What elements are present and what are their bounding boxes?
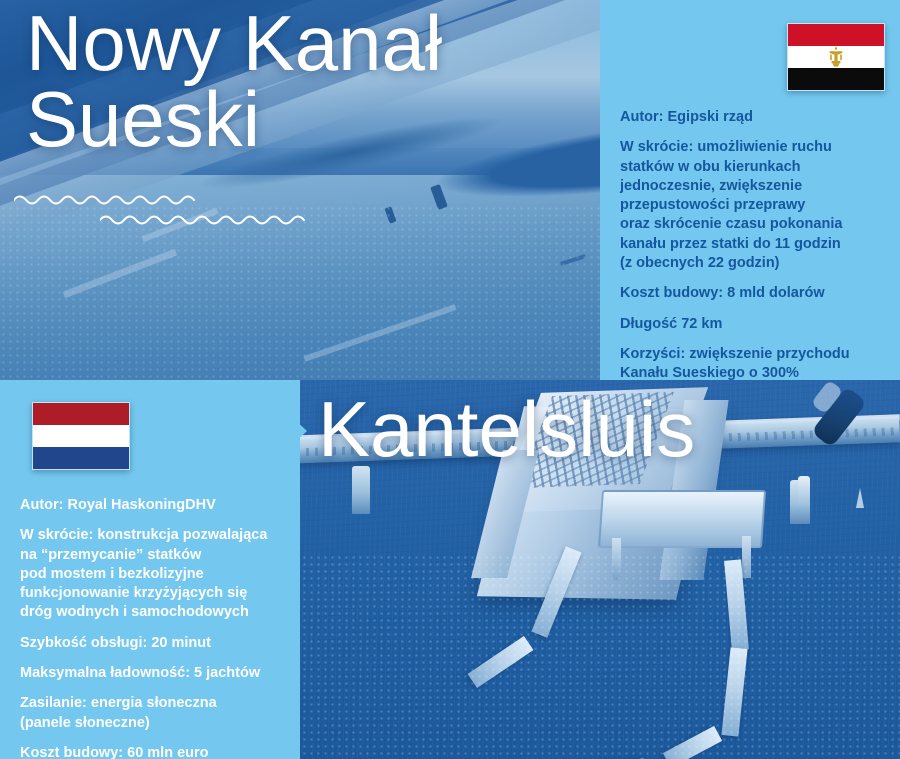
fact-capacity: Maksymalna ładowność: 5 jachtów [20, 664, 286, 683]
flag-stripe-red [33, 403, 129, 425]
flag-stripe-black [788, 68, 884, 90]
flag-stripe-white [33, 425, 129, 447]
egypt-flag-icon [787, 23, 885, 91]
navigation-buoy [798, 476, 810, 506]
fact-speed: Szybkość obsługi: 20 minut [20, 634, 286, 653]
flag-stripe-red [788, 24, 884, 46]
lock-pontoon [598, 490, 766, 548]
fact-cost: Koszt budowy: 60 mln euro [20, 744, 286, 759]
wave-decoration-line [100, 212, 390, 226]
eagle-of-saladin-icon [825, 45, 847, 69]
page-title-suez: Nowy Kanał Sueski [26, 6, 442, 157]
sailboat [856, 488, 864, 508]
fact-author: Autor: Egipski rząd [620, 108, 884, 127]
netherlands-flag-icon [32, 402, 130, 470]
wave-decoration-line [14, 192, 304, 206]
fact-length: Długość 72 km [620, 315, 884, 334]
fact-power: Zasilanie: energia słoneczna (panele sło… [20, 694, 286, 733]
flag-stripe-blue [33, 447, 129, 469]
fact-benefits: Korzyści: zwiększenie przychodu Kanału S… [620, 345, 884, 384]
page-title-kantelsluis: Kantelsluis [318, 392, 695, 468]
fact-cost: Koszt budowy: 8 mld dolarów [620, 284, 884, 303]
infographic-page: Autor: Egipski rząd W skrócie: umożliwie… [0, 0, 900, 759]
fact-author: Autor: Royal HaskoningDHV [20, 496, 286, 515]
fact-summary: W skrócie: konstrukcja pozwalająca na “p… [20, 526, 286, 622]
fact-summary: W skrócie: umożliwienie ruchu statków w … [620, 138, 884, 273]
